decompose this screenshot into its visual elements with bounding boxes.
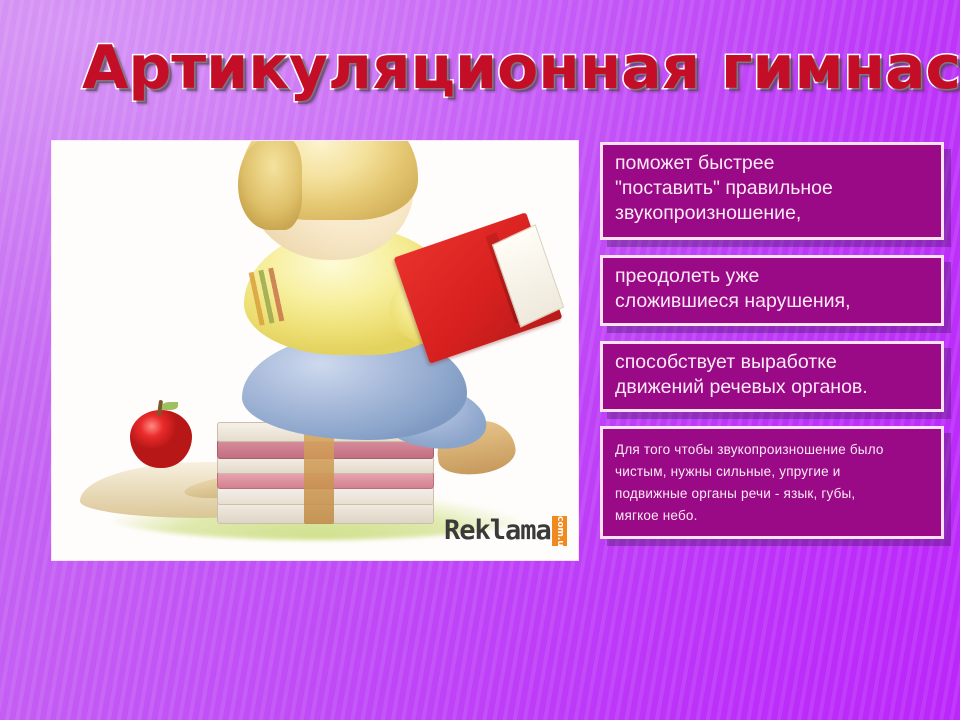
illustration-frame: Reklama com.ua	[52, 141, 578, 560]
callout-line: сложившиеся нарушения,	[615, 289, 931, 314]
callout-line: преодолеть уже	[615, 264, 931, 289]
callout-line: поможет быстрее	[615, 151, 931, 176]
watermark-text: Reklama	[444, 516, 551, 546]
callout-box-1: поможет быстрее "поставить" правильное з…	[600, 142, 944, 240]
callout-line: Для того чтобы звукопроизношение было	[615, 439, 931, 461]
child-reading-book-illustration: Reklama com.ua	[52, 141, 578, 560]
callout-line: звукопроизношение,	[615, 201, 931, 226]
callout-box-4: Для того чтобы звукопроизношение было чи…	[600, 426, 944, 539]
page-title: Артикуляционная гимнастика	[82, 28, 922, 108]
apple-leaf-shape	[162, 402, 178, 410]
apple-shape	[130, 410, 192, 468]
watermark-badge: com.ua	[552, 516, 567, 546]
callout-box-3: способствует выработке движений речевых …	[600, 341, 944, 412]
callout-line: мягкое небо.	[615, 505, 931, 527]
callout-line: подвижные органы речи - язык, губы,	[615, 483, 931, 505]
callout-line: движений речевых органов.	[615, 375, 931, 400]
hair-side-shape	[238, 141, 302, 230]
callout-line: способствует выработке	[615, 350, 931, 375]
watermark: Reklama com.ua	[444, 516, 567, 546]
book-spine-shape	[304, 424, 334, 524]
callout-box-2: преодолеть уже сложившиеся нарушения,	[600, 255, 944, 326]
slide-canvas: Артикуляционная гимнастика	[0, 0, 960, 720]
callout-line: чистым, нужны сильные, упругие и	[615, 461, 931, 483]
callout-line: "поставить" правильное	[615, 176, 931, 201]
